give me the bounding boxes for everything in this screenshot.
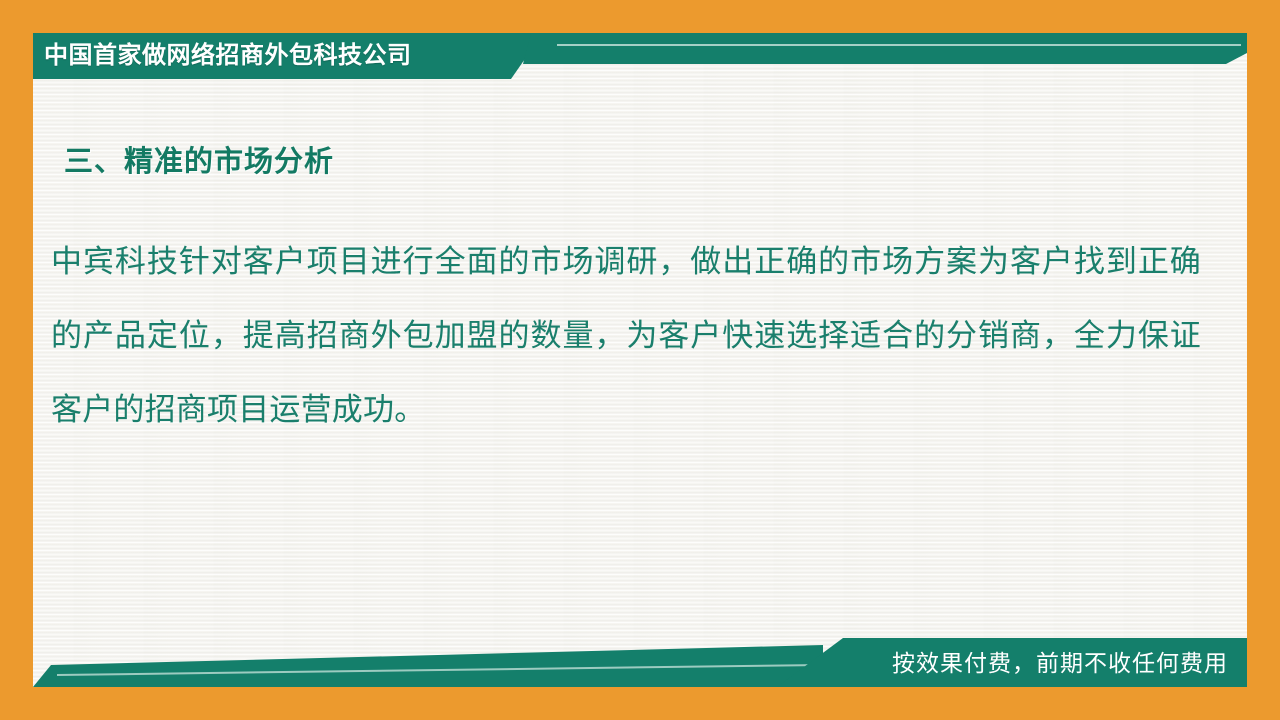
footer-slogan: 按效果付费，前期不收任何费用 bbox=[892, 644, 1228, 678]
slide-paper-background: 中国首家做网络招商外包科技公司 三、精准的市场分析 中宾科技针对客户项目进行全面… bbox=[33, 33, 1247, 687]
slide-footer: 按效果付费，前期不收任何费用 bbox=[33, 625, 1247, 687]
body-paragraph-block: 中宾科技针对客户项目进行全面的市场调研，做出正确的市场方案为客户找到正确的产品定… bbox=[51, 225, 1201, 447]
section-heading: 三、精准的市场分析 bbox=[64, 138, 334, 180]
header-divider-line bbox=[557, 44, 1241, 46]
slide-header: 中国首家做网络招商外包科技公司 bbox=[33, 33, 1247, 81]
header-title: 中国首家做网络招商外包科技公司 bbox=[44, 41, 412, 71]
header-green-bar bbox=[523, 33, 1247, 64]
body-paragraph: 中宾科技针对客户项目进行全面的市场调研，做出正确的市场方案为客户找到正确的产品定… bbox=[51, 225, 1201, 447]
slide-canvas: 中国首家做网络招商外包科技公司 三、精准的市场分析 中宾科技针对客户项目进行全面… bbox=[0, 0, 1280, 720]
